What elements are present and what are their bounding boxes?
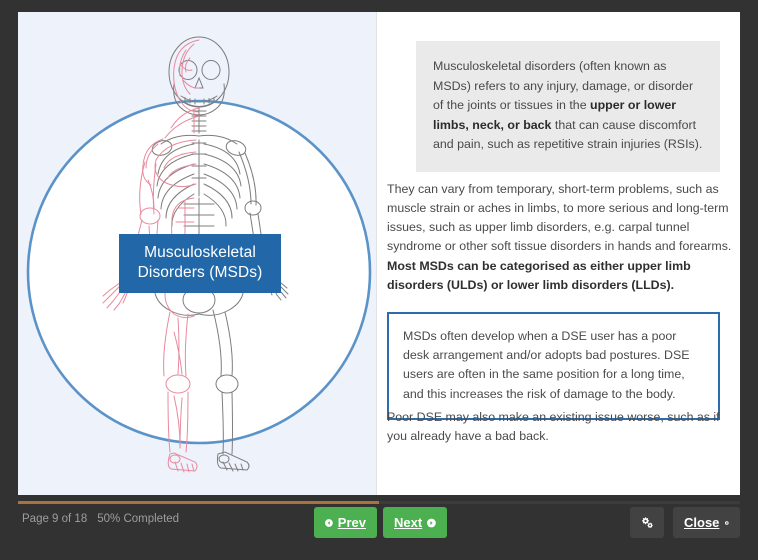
definition-text: Musculoskeletal disorders (often known a… [433,57,703,155]
arrow-left-circle-icon [325,517,333,529]
arrow-right-circle-icon [427,517,436,529]
close-circle-icon [725,517,729,529]
dse-highlight-text: MSDs often develop when a DSE user has a… [403,327,704,404]
player-footer: Page 9 of 1850% Completed Prev Next [0,495,758,560]
next-button[interactable]: Next [383,507,447,538]
msd-label-line2: Disorders (MSDs) [129,263,271,283]
page-counter: Page 9 of 18 [22,513,87,525]
paragraph-categories: Most MSDs can be categorised as either u… [387,257,735,295]
close-button-label: Close [684,515,719,530]
paragraph-existing-issue: Poor DSE may also make an existing issue… [387,408,735,446]
text-content-panel: Musculoskeletal disorders (often known a… [376,12,740,495]
course-player-window: Musculoskeletal Disorders (MSDs) Musculo… [0,0,758,560]
slide-content-area: Musculoskeletal Disorders (MSDs) Musculo… [18,12,740,495]
progress-bar-fill [18,501,379,504]
prev-button[interactable]: Prev [314,507,377,538]
dse-highlight-callout: MSDs often develop when a DSE user has a… [387,312,720,420]
illustration-panel: Musculoskeletal Disorders (MSDs) [18,12,376,495]
paragraph-variation: They can vary from temporary, short-term… [387,180,735,255]
cogs-icon [641,515,653,530]
next-button-label: Next [394,515,422,530]
msd-label-box: Musculoskeletal Disorders (MSDs) [119,234,281,293]
page-status-text: Page 9 of 1850% Completed [22,513,189,525]
completion-percent: 50% Completed [97,513,179,525]
msd-label-line1: Musculoskeletal [129,243,271,263]
prev-button-label: Prev [338,515,366,530]
progress-bar-track [18,501,740,504]
settings-button[interactable] [630,507,664,538]
close-button[interactable]: Close [673,507,740,538]
definition-callout: Musculoskeletal disorders (often known a… [416,41,720,172]
